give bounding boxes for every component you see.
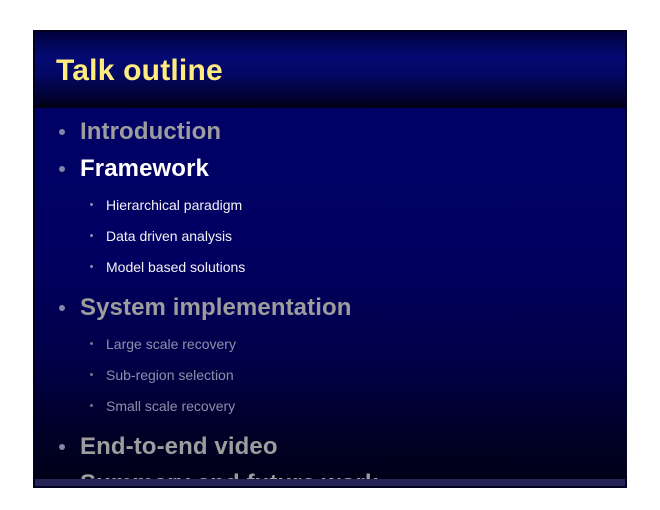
- bullet-dot-icon: [59, 305, 65, 311]
- outline-subitem-large-scale-recovery[interactable]: Large scale recovery: [35, 331, 625, 357]
- outline-subitem-sub-region-selection[interactable]: Sub-region selection: [35, 362, 625, 388]
- sub-bullet-dot-icon: [90, 234, 93, 237]
- sub-bullet-dot-icon: [90, 373, 93, 376]
- outline-item-end-to-end-video[interactable]: End-to-end video: [35, 428, 625, 465]
- outline-item-introduction[interactable]: Introduction: [35, 113, 625, 150]
- outline-subitem-model-based-solutions[interactable]: Model based solutions: [35, 254, 625, 280]
- outline-subitem-label: Small scale recovery: [106, 393, 235, 419]
- outline-subitem-label: Hierarchical paradigm: [106, 192, 242, 218]
- bullet-dot-icon: [59, 166, 65, 172]
- outline-subitem-small-scale-recovery[interactable]: Small scale recovery: [35, 393, 625, 419]
- presentation-slide: Talk outline Introduction Framework: [33, 30, 627, 488]
- sub-bullet-dot-icon: [90, 265, 93, 268]
- slide-title: Talk outline: [56, 54, 223, 88]
- bullet-dot-icon: [59, 444, 65, 450]
- sub-bullet-dot-icon: [90, 203, 93, 206]
- sub-bullet-dot-icon: [90, 342, 93, 345]
- spacer-before-endtoend: [35, 419, 625, 428]
- page-canvas: Talk outline Introduction Framework: [0, 0, 660, 510]
- spacer-before-system: [35, 280, 625, 289]
- outline-item-label: End-to-end video: [80, 428, 278, 465]
- slide-content-area: Talk outline Introduction Framework: [35, 32, 625, 486]
- slide-body: Introduction Framework Hierarchical para…: [35, 108, 625, 479]
- bullet-dot-icon: [59, 129, 65, 135]
- slide-bottom-border: [35, 479, 625, 486]
- outline-subitem-label: Data driven analysis: [106, 223, 232, 249]
- outline-item-label: System implementation: [80, 289, 352, 326]
- sub-bullet-dot-icon: [90, 404, 93, 407]
- outline-list: Introduction Framework Hierarchical para…: [35, 108, 625, 486]
- outline-subitem-data-driven-analysis[interactable]: Data driven analysis: [35, 223, 625, 249]
- outline-item-system-implementation[interactable]: System implementation: [35, 289, 625, 326]
- outline-subitem-label: Large scale recovery: [106, 331, 236, 357]
- outline-subitem-hierarchical-paradigm[interactable]: Hierarchical paradigm: [35, 192, 625, 218]
- slide-title-band: Talk outline: [35, 32, 625, 108]
- outline-item-label: Introduction: [80, 113, 221, 150]
- outline-subitem-label: Sub-region selection: [106, 362, 234, 388]
- outline-item-label: Framework: [80, 150, 209, 187]
- outline-subitem-label: Model based solutions: [106, 254, 245, 280]
- outline-item-framework[interactable]: Framework: [35, 150, 625, 187]
